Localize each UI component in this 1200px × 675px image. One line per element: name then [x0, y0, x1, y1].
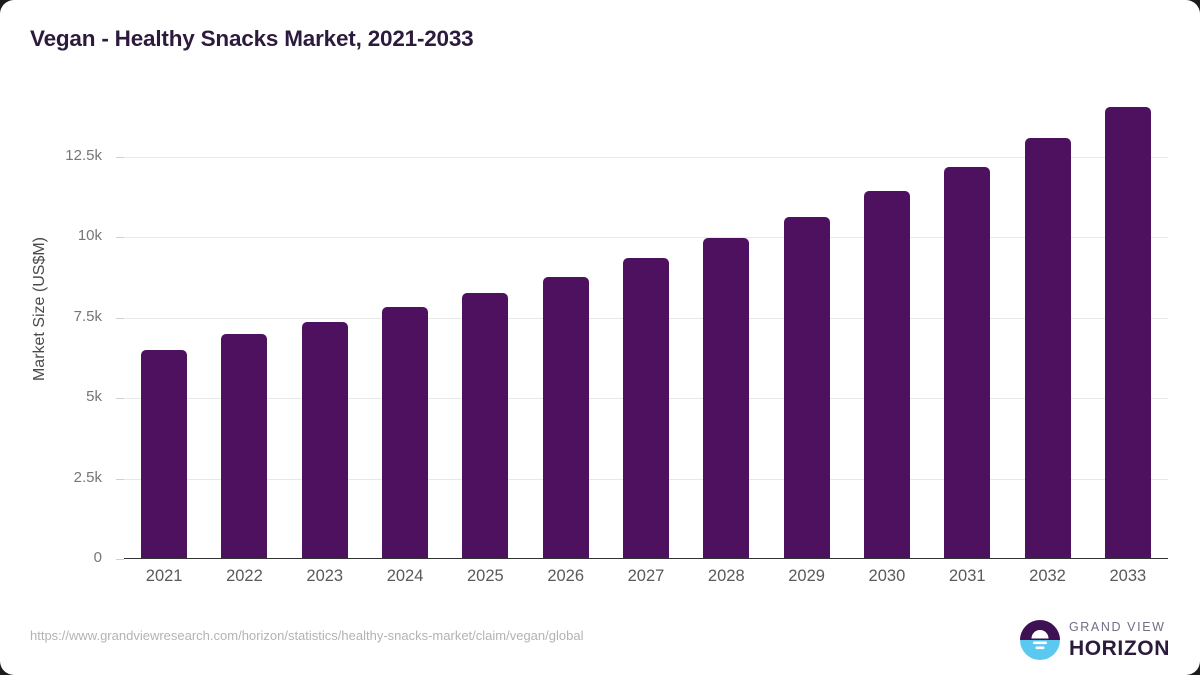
brand-logo[interactable]: GRAND VIEW HORIZON	[1019, 618, 1170, 662]
plot-area	[124, 76, 1168, 559]
bar-2026[interactable]	[543, 277, 589, 559]
bar-2025[interactable]	[462, 293, 508, 559]
bar-2024[interactable]	[382, 307, 428, 559]
y-tick-mark	[116, 318, 124, 319]
bar-2033[interactable]	[1105, 107, 1151, 559]
gridline	[124, 237, 1168, 238]
bar-2029[interactable]	[784, 217, 830, 559]
bar-2032[interactable]	[1025, 138, 1071, 559]
x-tick-label-2021: 2021	[124, 567, 204, 586]
bar-2031[interactable]	[944, 167, 990, 559]
y-tick-mark	[116, 157, 124, 158]
gridline	[124, 157, 1168, 158]
x-tick-label-2024: 2024	[365, 567, 445, 586]
y-tick-mark	[116, 237, 124, 238]
y-tick-label: 10k	[0, 227, 102, 244]
y-tick-label: 5k	[0, 388, 102, 405]
x-tick-label-2031: 2031	[927, 567, 1007, 586]
y-tick-label: 0	[0, 549, 102, 566]
bar-2027[interactable]	[623, 258, 669, 559]
bar-2028[interactable]	[703, 238, 749, 559]
x-tick-label-2026: 2026	[526, 567, 606, 586]
x-tick-label-2032: 2032	[1007, 567, 1087, 586]
bar-2023[interactable]	[302, 322, 348, 559]
y-tick-label: 2.5k	[0, 469, 102, 486]
x-tick-label-2029: 2029	[766, 567, 846, 586]
bar-2022[interactable]	[221, 334, 267, 559]
y-tick-label: 12.5k	[0, 147, 102, 164]
logo-line-horizon: HORIZON	[1069, 638, 1170, 659]
x-tick-label-2025: 2025	[445, 567, 525, 586]
x-tick-label-2023: 2023	[285, 567, 365, 586]
x-tick-label-2028: 2028	[686, 567, 766, 586]
horizon-circle-icon	[1019, 619, 1061, 661]
source-url[interactable]: https://www.grandviewresearch.com/horizo…	[30, 628, 583, 643]
y-tick-mark	[116, 479, 124, 480]
y-tick-mark	[116, 398, 124, 399]
bar-2030[interactable]	[864, 191, 910, 559]
x-tick-label-2022: 2022	[204, 567, 284, 586]
logo-text: GRAND VIEW HORIZON	[1069, 621, 1170, 659]
chart-card: Vegan - Healthy Snacks Market, 2021-2033…	[0, 0, 1200, 675]
bar-2021[interactable]	[141, 350, 187, 559]
x-tick-label-2027: 2027	[606, 567, 686, 586]
logo-line-grand-view: GRAND VIEW	[1069, 621, 1170, 634]
x-axis-line	[124, 558, 1168, 560]
x-tick-label-2033: 2033	[1088, 567, 1168, 586]
y-tick-label: 7.5k	[0, 308, 102, 325]
x-tick-label-2030: 2030	[847, 567, 927, 586]
y-tick-mark	[116, 559, 124, 560]
page-title: Vegan - Healthy Snacks Market, 2021-2033	[30, 26, 474, 52]
